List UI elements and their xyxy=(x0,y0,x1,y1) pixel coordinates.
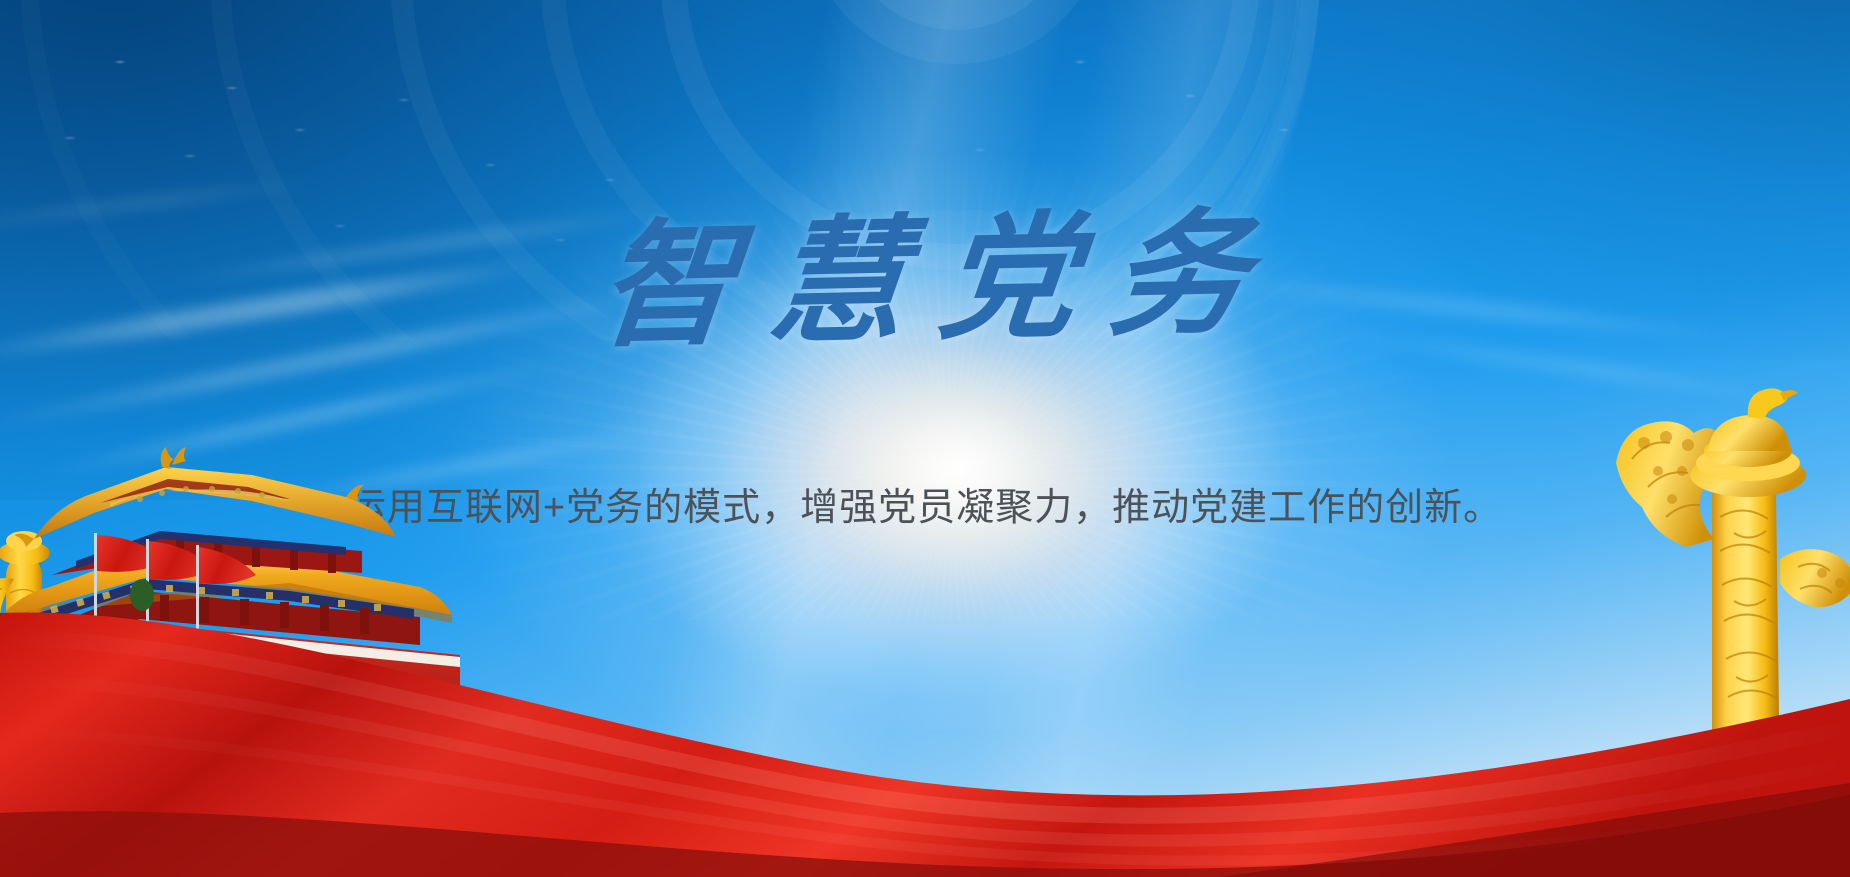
party-affairs-banner: 智慧党务 运用互联网+党务的模式，增强党员凝聚力，推动党建工作的创新。 xyxy=(0,0,1850,877)
red-silk-ribbon xyxy=(0,577,1850,877)
